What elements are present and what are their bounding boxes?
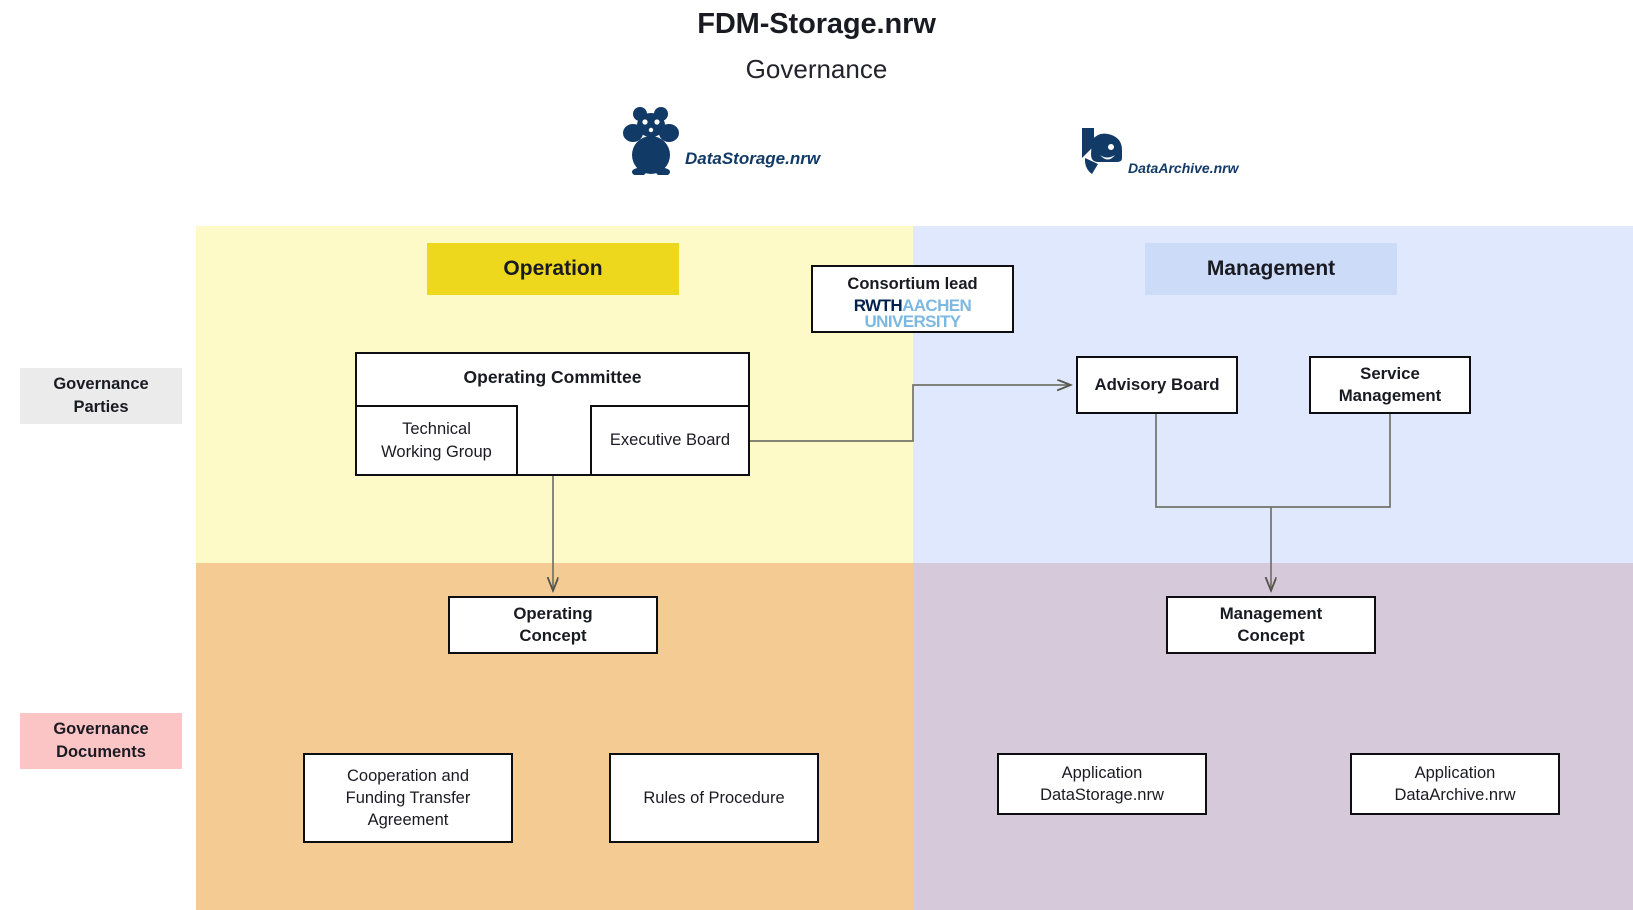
box-operating-concept[interactable]: Operating Concept: [448, 596, 658, 654]
box-executive-board[interactable]: Executive Board: [590, 405, 750, 476]
box-rules-of-procedure[interactable]: Rules of Procedure: [609, 753, 819, 843]
box-application-dataarchive[interactable]: Application DataArchive.nrw: [1350, 753, 1560, 815]
box-technical-working-group[interactable]: Technical Working Group: [355, 405, 518, 476]
management-concept-line2: Concept: [1220, 625, 1323, 648]
management-concept-line1: Management: [1220, 603, 1323, 626]
row-label-parties-line2: Parties: [53, 396, 148, 419]
row-label-documents-line2: Documents: [53, 741, 148, 764]
rwth-aachen-university-logo: RWTHAACHEN UNIVERSITY: [854, 298, 971, 330]
row-label-parties-line1: Governance: [53, 373, 148, 396]
operating-concept-line1: Operating: [513, 603, 592, 626]
consortium-lead-label: Consortium lead: [847, 273, 977, 295]
box-consortium-lead[interactable]: Consortium lead RWTHAACHEN UNIVERSITY: [811, 265, 1014, 333]
box-application-datastorage[interactable]: Application DataStorage.nrw: [997, 753, 1207, 815]
dataarchive-brand: DataArchive.nrw: [1078, 124, 1238, 185]
whale-icon: [1078, 124, 1126, 185]
hamster-icon: [623, 105, 681, 180]
application-dataarchive-line2: DataArchive.nrw: [1394, 784, 1515, 806]
technical-working-group-line1: Technical: [381, 418, 492, 440]
service-management-line1: Service: [1339, 363, 1442, 386]
box-advisory-board[interactable]: Advisory Board: [1076, 356, 1238, 414]
governance-diagram: FDM-Storage.nrw Governance: [0, 0, 1633, 910]
row-label-documents-line1: Governance: [53, 718, 148, 741]
box-cooperation-and-funding-transfer-agreement[interactable]: Cooperation and Funding Transfer Agreeme…: [303, 753, 513, 843]
section-header-operation: Operation: [427, 243, 679, 295]
application-datastorage-line1: Application: [1040, 762, 1164, 784]
cooperation-agreement-line1: Cooperation and: [346, 765, 471, 787]
page-subtitle: Governance: [0, 54, 1633, 85]
dataarchive-label: DataArchive.nrw: [1128, 160, 1238, 176]
rwth-university-text: UNIVERSITY: [854, 314, 971, 330]
advisory-board-label: Advisory Board: [1095, 374, 1220, 397]
service-management-line2: Management: [1339, 385, 1442, 408]
row-label-governance-documents: Governance Documents: [20, 713, 182, 769]
operating-concept-line2: Concept: [513, 625, 592, 648]
application-dataarchive-line1: Application: [1394, 762, 1515, 784]
datastorage-label: DataStorage.nrw: [685, 149, 820, 169]
technical-working-group-line2: Working Group: [381, 441, 492, 463]
operating-committee-label: Operating Committee: [464, 366, 642, 389]
datastorage-brand: DataStorage.nrw: [623, 105, 820, 180]
rules-of-procedure-label: Rules of Procedure: [643, 787, 784, 809]
application-datastorage-line2: DataStorage.nrw: [1040, 784, 1164, 806]
executive-board-label: Executive Board: [610, 429, 730, 451]
cooperation-agreement-line2: Funding Transfer: [346, 787, 471, 809]
box-service-management[interactable]: Service Management: [1309, 356, 1471, 414]
section-header-management: Management: [1145, 243, 1397, 295]
page-title: FDM-Storage.nrw: [0, 8, 1633, 41]
box-management-concept[interactable]: Management Concept: [1166, 596, 1376, 654]
row-label-governance-parties: Governance Parties: [20, 368, 182, 424]
cooperation-agreement-line3: Agreement: [346, 809, 471, 831]
